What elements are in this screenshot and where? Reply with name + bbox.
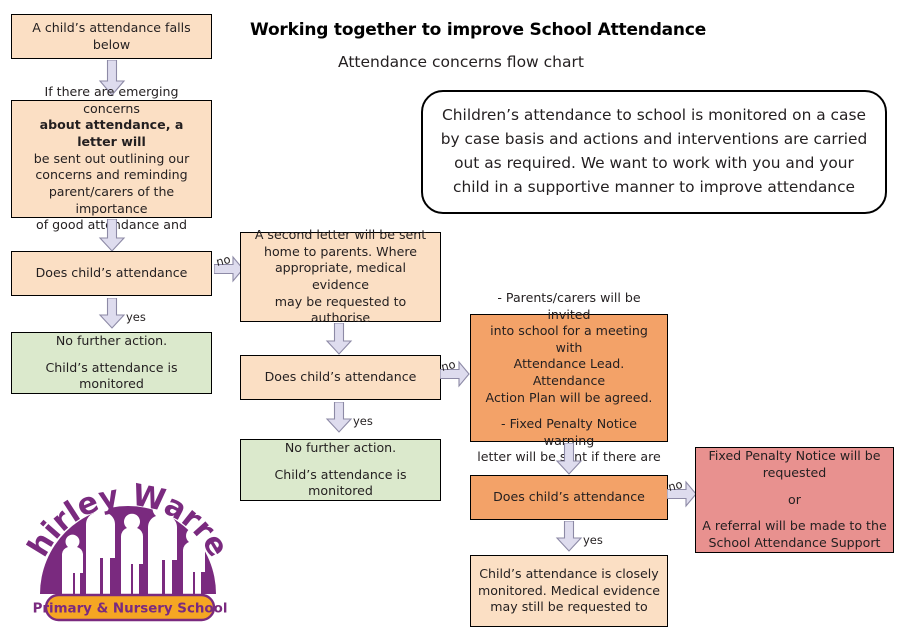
arrow-down-n8-n9 [555,443,583,476]
node-line: may still be requested to [477,599,661,616]
node-parents-meeting-fpn-warning: - Parents/carers will be invited into sc… [470,314,668,442]
node-line: parent/carers of the importance [18,184,205,217]
node-spacer [702,482,887,492]
edge-label-yes-2: yes [353,414,373,428]
arrow-down-n2-n3 [98,219,126,253]
node-line: Action Plan will be agreed. [477,390,661,407]
node-line: Child’s attendance is closely [477,566,661,583]
page-subtitle: Attendance concerns flow chart [338,53,584,71]
node-line: home to parents. Where [247,244,434,261]
node-line: appropriate, medical evidence [247,260,434,293]
node-emerging-concerns-letter: If there are emerging concerns about att… [11,100,212,218]
arrow-down-n5-n6 [325,323,353,356]
node-line: or [702,492,887,509]
page-title: Working together to improve School Atten… [250,20,706,40]
node-no-further-action-1: No further action. Child’s attendance is… [11,332,212,394]
callout-line: Children’s attendance to school is monit… [442,106,866,124]
node-spacer [702,508,887,518]
node-line: Does child’s attendance [477,489,661,506]
flowchart-canvas: Working together to improve School Atten… [0,0,905,630]
node-line: School Attendance Support [702,535,887,552]
edge-label-yes-1: yes [126,310,146,324]
node-spacer [247,457,434,467]
node-line: into school for a meeting with [477,323,661,356]
node-spacer [477,406,661,416]
node-line: Does child’s attendance [18,265,205,282]
node-spacer [18,350,205,360]
node-line: about attendance, a letter will [18,117,205,150]
node-closely-monitored: Child’s attendance is closely monitored.… [470,555,668,627]
callout-line: out as required. We want to work with yo… [454,154,854,172]
node-line: Does child’s attendance [247,369,434,386]
node-line: Child’s attendance is monitored [18,360,205,393]
node-decision-1: Does child’s attendance [11,251,212,296]
node-attendance-falls-below: A child’s attendance falls below [11,14,212,59]
node-line: A second letter will be sent [247,227,434,244]
node-line: concerns and reminding [18,167,205,184]
node-line: No further action. [247,440,434,457]
node-line: No further action. [18,333,205,350]
node-line: - Parents/carers will be invited [477,290,661,323]
node-decision-2: Does child’s attendance [240,355,441,400]
node-fixed-penalty-notice: Fixed Penalty Notice will be requested o… [695,447,894,553]
node-line: If there are emerging concerns [18,84,205,117]
node-line: may be requested to authorise [247,294,434,327]
node-line: be sent out outlining our [18,151,205,168]
callout-line: by case basis and actions and interventi… [441,130,868,148]
node-no-further-action-2: No further action. Child’s attendance is… [240,439,441,501]
node-line: A child’s attendance falls below [18,20,205,53]
node-line: Attendance Lead. Attendance [477,356,661,389]
node-line: requested [702,465,887,482]
node-line: Fixed Penalty Notice will be [702,448,887,465]
callout-line: child in a supportive manner to improve … [453,178,855,196]
node-second-letter: A second letter will be sent home to par… [240,232,441,322]
node-line: monitored. Medical evidence [477,583,661,600]
edge-label-yes-3: yes [583,533,603,547]
logo-banner-text: Primary & Nursery School [33,602,228,617]
school-logo: Shirley Warren Primary & Nursery School [26,442,231,627]
arrow-down-n3-n4 [98,298,126,330]
node-line: Child’s attendance is monitored [247,467,434,500]
node-line: A referral will be made to the [702,518,887,535]
info-callout: Children’s attendance to school is monit… [421,90,887,214]
arrow-down-n9-n10 [555,521,583,553]
node-decision-3: Does child’s attendance [470,475,668,520]
arrow-down-n6-n7 [325,402,353,434]
